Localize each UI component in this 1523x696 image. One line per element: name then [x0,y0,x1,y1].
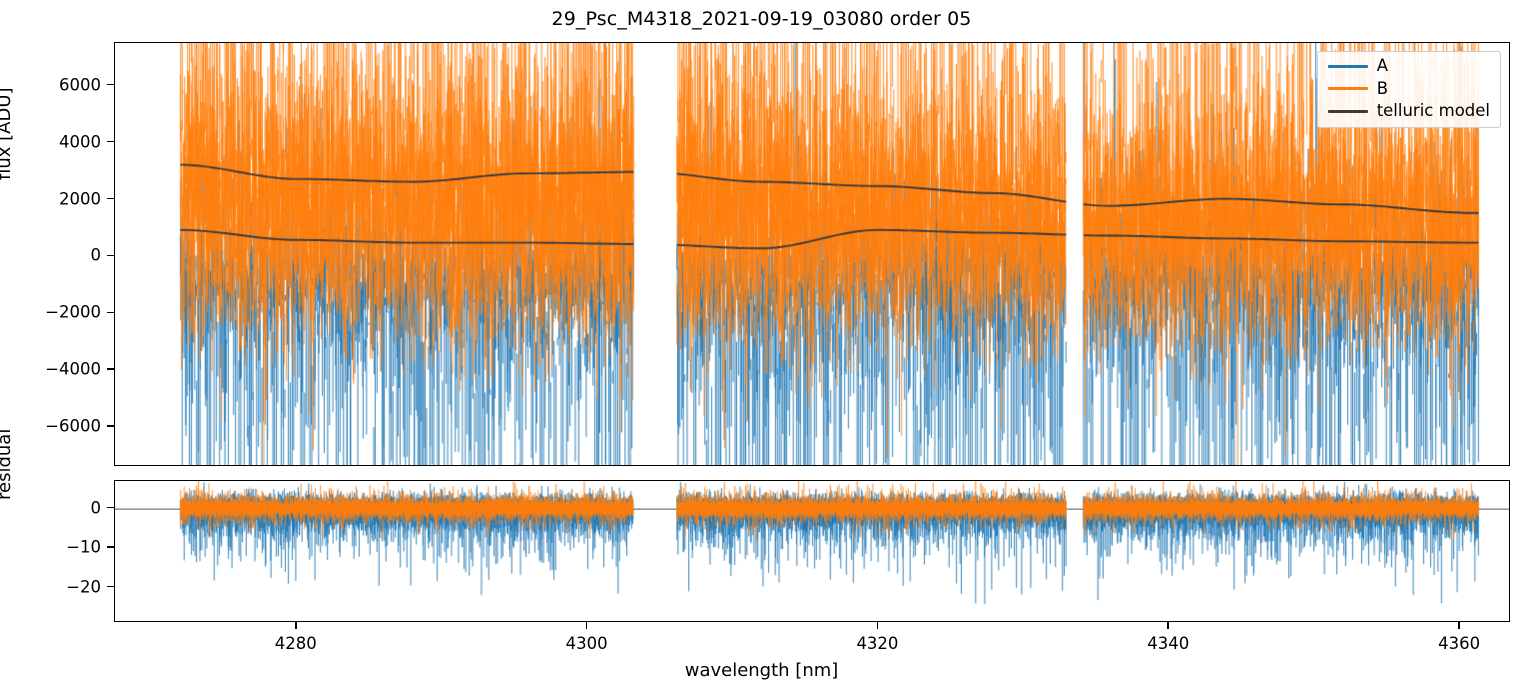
flux-tick-mark [107,198,114,200]
flux-tick-mark [107,255,114,257]
legend-label-telluric-model: telluric model [1377,103,1490,120]
flux-tick-mark [107,312,114,314]
residual-tick-label: 0 [0,498,101,517]
residual-tick-label: −10 [0,538,101,557]
wavelength-axis-label: wavelength [nm] [0,660,1523,681]
wavelength-tick-mark [586,622,588,629]
spectrum-figure: 29_Psc_M4318_2021-09-19_03080 order 05 A… [0,0,1523,696]
residual-axis-label: residual [0,429,15,500]
page-title: 29_Psc_M4318_2021-09-19_03080 order 05 [0,8,1523,30]
flux-tick-label: 2000 [0,189,101,208]
flux-axis-label: flux [ADU] [0,87,15,180]
wavelength-tick-mark [1167,622,1169,629]
flux-tick-mark [107,368,114,370]
residual-tick-label: −20 [0,577,101,596]
wavelength-tick-mark [295,622,297,629]
wavelength-tick-label: 4340 [1147,634,1189,653]
wavelength-tick-mark [877,622,879,629]
flux-tick-label: 4000 [0,132,101,151]
legend: A B telluric model [1317,51,1501,128]
wavelength-tick-label: 4280 [275,634,317,653]
flux-plot-canvas [115,43,1509,465]
residual-tick-mark [107,507,114,509]
legend-swatch-a [1328,65,1368,68]
flux-panel: A B telluric model [114,42,1510,466]
wavelength-tick-label: 4320 [856,634,898,653]
flux-tick-mark [107,425,114,427]
flux-tick-label: −4000 [0,360,101,379]
flux-tick-mark [107,141,114,143]
legend-label-b: B [1377,81,1388,98]
wavelength-tick-label: 4360 [1438,634,1480,653]
residual-tick-mark [107,586,114,588]
legend-label-a: A [1377,58,1388,75]
legend-item-telluric-model[interactable]: telluric model [1328,103,1490,120]
flux-tick-label: −2000 [0,303,101,322]
legend-item-b[interactable]: B [1328,81,1490,98]
flux-tick-mark [107,84,114,86]
legend-item-a[interactable]: A [1328,58,1490,75]
residual-panel [114,480,1510,622]
residual-plot-canvas [115,481,1509,621]
flux-tick-label: 0 [0,246,101,265]
flux-tick-label: −6000 [0,417,101,436]
legend-swatch-b [1328,87,1368,90]
wavelength-tick-label: 4300 [566,634,608,653]
flux-tick-label: 6000 [0,75,101,94]
wavelength-tick-mark [1458,622,1460,629]
legend-swatch-telluric-model [1328,110,1368,113]
residual-tick-mark [107,546,114,548]
